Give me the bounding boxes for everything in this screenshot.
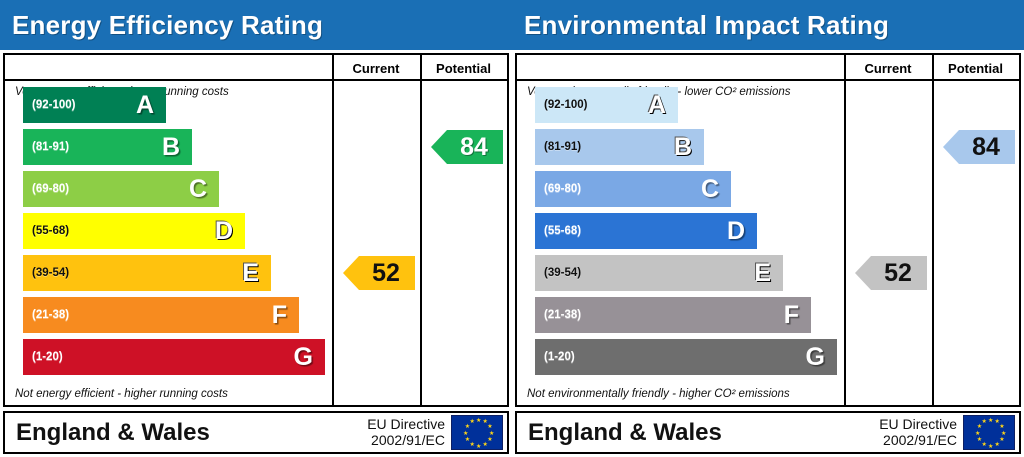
rating-band-a: (92-100)A	[535, 87, 678, 123]
column-header-potential: Potential	[420, 55, 507, 81]
eu-star: ★	[999, 425, 1003, 429]
rating-band-d: (55-68)D	[535, 213, 757, 249]
rating-band-e: (39-54)E	[23, 255, 271, 291]
eu-star: ★	[975, 432, 979, 436]
eu-flag-icon: ★★★★★★★★★★★★	[963, 415, 1015, 450]
certificate-footer: England & WalesEU Directive2002/91/EC★★★…	[3, 411, 509, 454]
eu-star: ★	[977, 438, 981, 442]
eu-star: ★	[489, 432, 493, 436]
eu-star: ★	[470, 443, 474, 447]
region-label: England & Wales	[528, 419, 879, 447]
column-header-row: CurrentPotential	[517, 55, 1019, 81]
band-range-label: (39-54)	[32, 267, 69, 279]
eu-star: ★	[995, 443, 999, 447]
potential-rating-value: 84	[972, 133, 1000, 162]
caption-bottom: Not environmentally friendly - higher CO…	[527, 388, 790, 400]
eu-star: ★	[470, 420, 474, 424]
rating-band-e: (39-54)E	[535, 255, 783, 291]
band-letter-label: C	[189, 177, 207, 202]
current-rating-arrow: 52	[343, 256, 415, 290]
rating-band-g: (1-20)G	[23, 339, 325, 375]
directive-line-1: EU Directive	[367, 416, 445, 432]
rating-band-a: (92-100)A	[23, 87, 166, 123]
eu-star: ★	[476, 445, 480, 449]
rating-band-f: (21-38)F	[535, 297, 811, 333]
band-range-label: (92-100)	[32, 99, 75, 111]
potential-rating-arrow: 84	[943, 130, 1015, 164]
band-range-label: (1-20)	[32, 351, 63, 363]
eu-star: ★	[483, 443, 487, 447]
directive-line-1: EU Directive	[879, 416, 957, 432]
band-range-label: (81-91)	[32, 141, 69, 153]
rating-band-f: (21-38)F	[23, 297, 299, 333]
band-range-label: (21-38)	[544, 309, 581, 321]
column-divider-potential	[420, 55, 422, 405]
eu-star: ★	[988, 445, 992, 449]
band-letter-label: G	[806, 345, 825, 370]
rating-band-c: (69-80)C	[23, 171, 219, 207]
current-rating-value: 52	[372, 259, 400, 288]
panel-title: Energy Efficiency Rating	[12, 10, 323, 41]
eu-star: ★	[1001, 432, 1005, 436]
band-range-label: (55-68)	[544, 225, 581, 237]
eu-flag-icon: ★★★★★★★★★★★★	[451, 415, 503, 450]
rating-panel-energy: Energy Efficiency RatingCurrentPotential…	[0, 0, 512, 457]
panel-header-energy: Energy Efficiency Rating	[0, 0, 512, 50]
eu-star: ★	[465, 438, 469, 442]
eu-star: ★	[988, 419, 992, 423]
eu-star: ★	[982, 443, 986, 447]
band-range-label: (21-38)	[32, 309, 69, 321]
column-header-potential: Potential	[932, 55, 1019, 81]
band-letter-label: C	[701, 177, 719, 202]
region-label: England & Wales	[16, 419, 367, 447]
directive-line-2: 2002/91/EC	[883, 432, 957, 448]
band-letter-label: E	[242, 261, 259, 286]
band-range-label: (69-80)	[32, 183, 69, 195]
column-divider-current	[332, 55, 334, 405]
band-letter-label: A	[136, 93, 154, 118]
band-range-label: (39-54)	[544, 267, 581, 279]
band-letter-label: G	[294, 345, 313, 370]
band-range-label: (55-68)	[32, 225, 69, 237]
current-rating-arrow: 52	[855, 256, 927, 290]
rating-band-b: (81-91)B	[535, 129, 704, 165]
band-letter-label: E	[754, 261, 771, 286]
eu-star: ★	[463, 432, 467, 436]
band-range-label: (81-91)	[544, 141, 581, 153]
caption-bottom: Not energy efficient - higher running co…	[15, 388, 228, 400]
epc-certificate: Energy Efficiency RatingCurrentPotential…	[0, 0, 1024, 457]
eu-star: ★	[982, 420, 986, 424]
column-header-current: Current	[844, 55, 932, 81]
band-letter-label: B	[674, 135, 692, 160]
column-header-row: CurrentPotential	[5, 55, 507, 81]
rating-band-b: (81-91)B	[23, 129, 192, 165]
chart-frame: CurrentPotentialVery environmentally fri…	[515, 53, 1021, 407]
rating-band-g: (1-20)G	[535, 339, 837, 375]
band-letter-label: B	[162, 135, 180, 160]
eu-star: ★	[995, 420, 999, 424]
eu-star: ★	[483, 420, 487, 424]
rating-band-d: (55-68)D	[23, 213, 245, 249]
chart-frame: CurrentPotentialVery energy efficient - …	[3, 53, 509, 407]
eu-star: ★	[465, 425, 469, 429]
directive-line-2: 2002/91/EC	[371, 432, 445, 448]
potential-rating-value: 84	[460, 133, 488, 162]
certificate-footer: England & WalesEU Directive2002/91/EC★★★…	[515, 411, 1021, 454]
eu-directive-label: EU Directive2002/91/EC	[367, 417, 445, 448]
band-range-label: (69-80)	[544, 183, 581, 195]
panel-title: Environmental Impact Rating	[524, 10, 889, 41]
eu-directive-label: EU Directive2002/91/EC	[879, 417, 957, 448]
rating-panel-environmental: Environmental Impact RatingCurrentPotent…	[512, 0, 1024, 457]
band-range-label: (1-20)	[544, 351, 575, 363]
rating-band-c: (69-80)C	[535, 171, 731, 207]
potential-rating-arrow: 84	[431, 130, 503, 164]
eu-star: ★	[977, 425, 981, 429]
column-divider-current	[844, 55, 846, 405]
band-letter-label: D	[215, 219, 233, 244]
band-range-label: (92-100)	[544, 99, 587, 111]
band-letter-label: F	[272, 303, 287, 328]
eu-star: ★	[476, 419, 480, 423]
current-rating-value: 52	[884, 259, 912, 288]
eu-star: ★	[487, 425, 491, 429]
band-letter-label: D	[727, 219, 745, 244]
panel-header-environmental: Environmental Impact Rating	[512, 0, 1024, 50]
band-letter-label: A	[648, 93, 666, 118]
column-header-current: Current	[332, 55, 420, 81]
column-divider-potential	[932, 55, 934, 405]
band-letter-label: F	[784, 303, 799, 328]
